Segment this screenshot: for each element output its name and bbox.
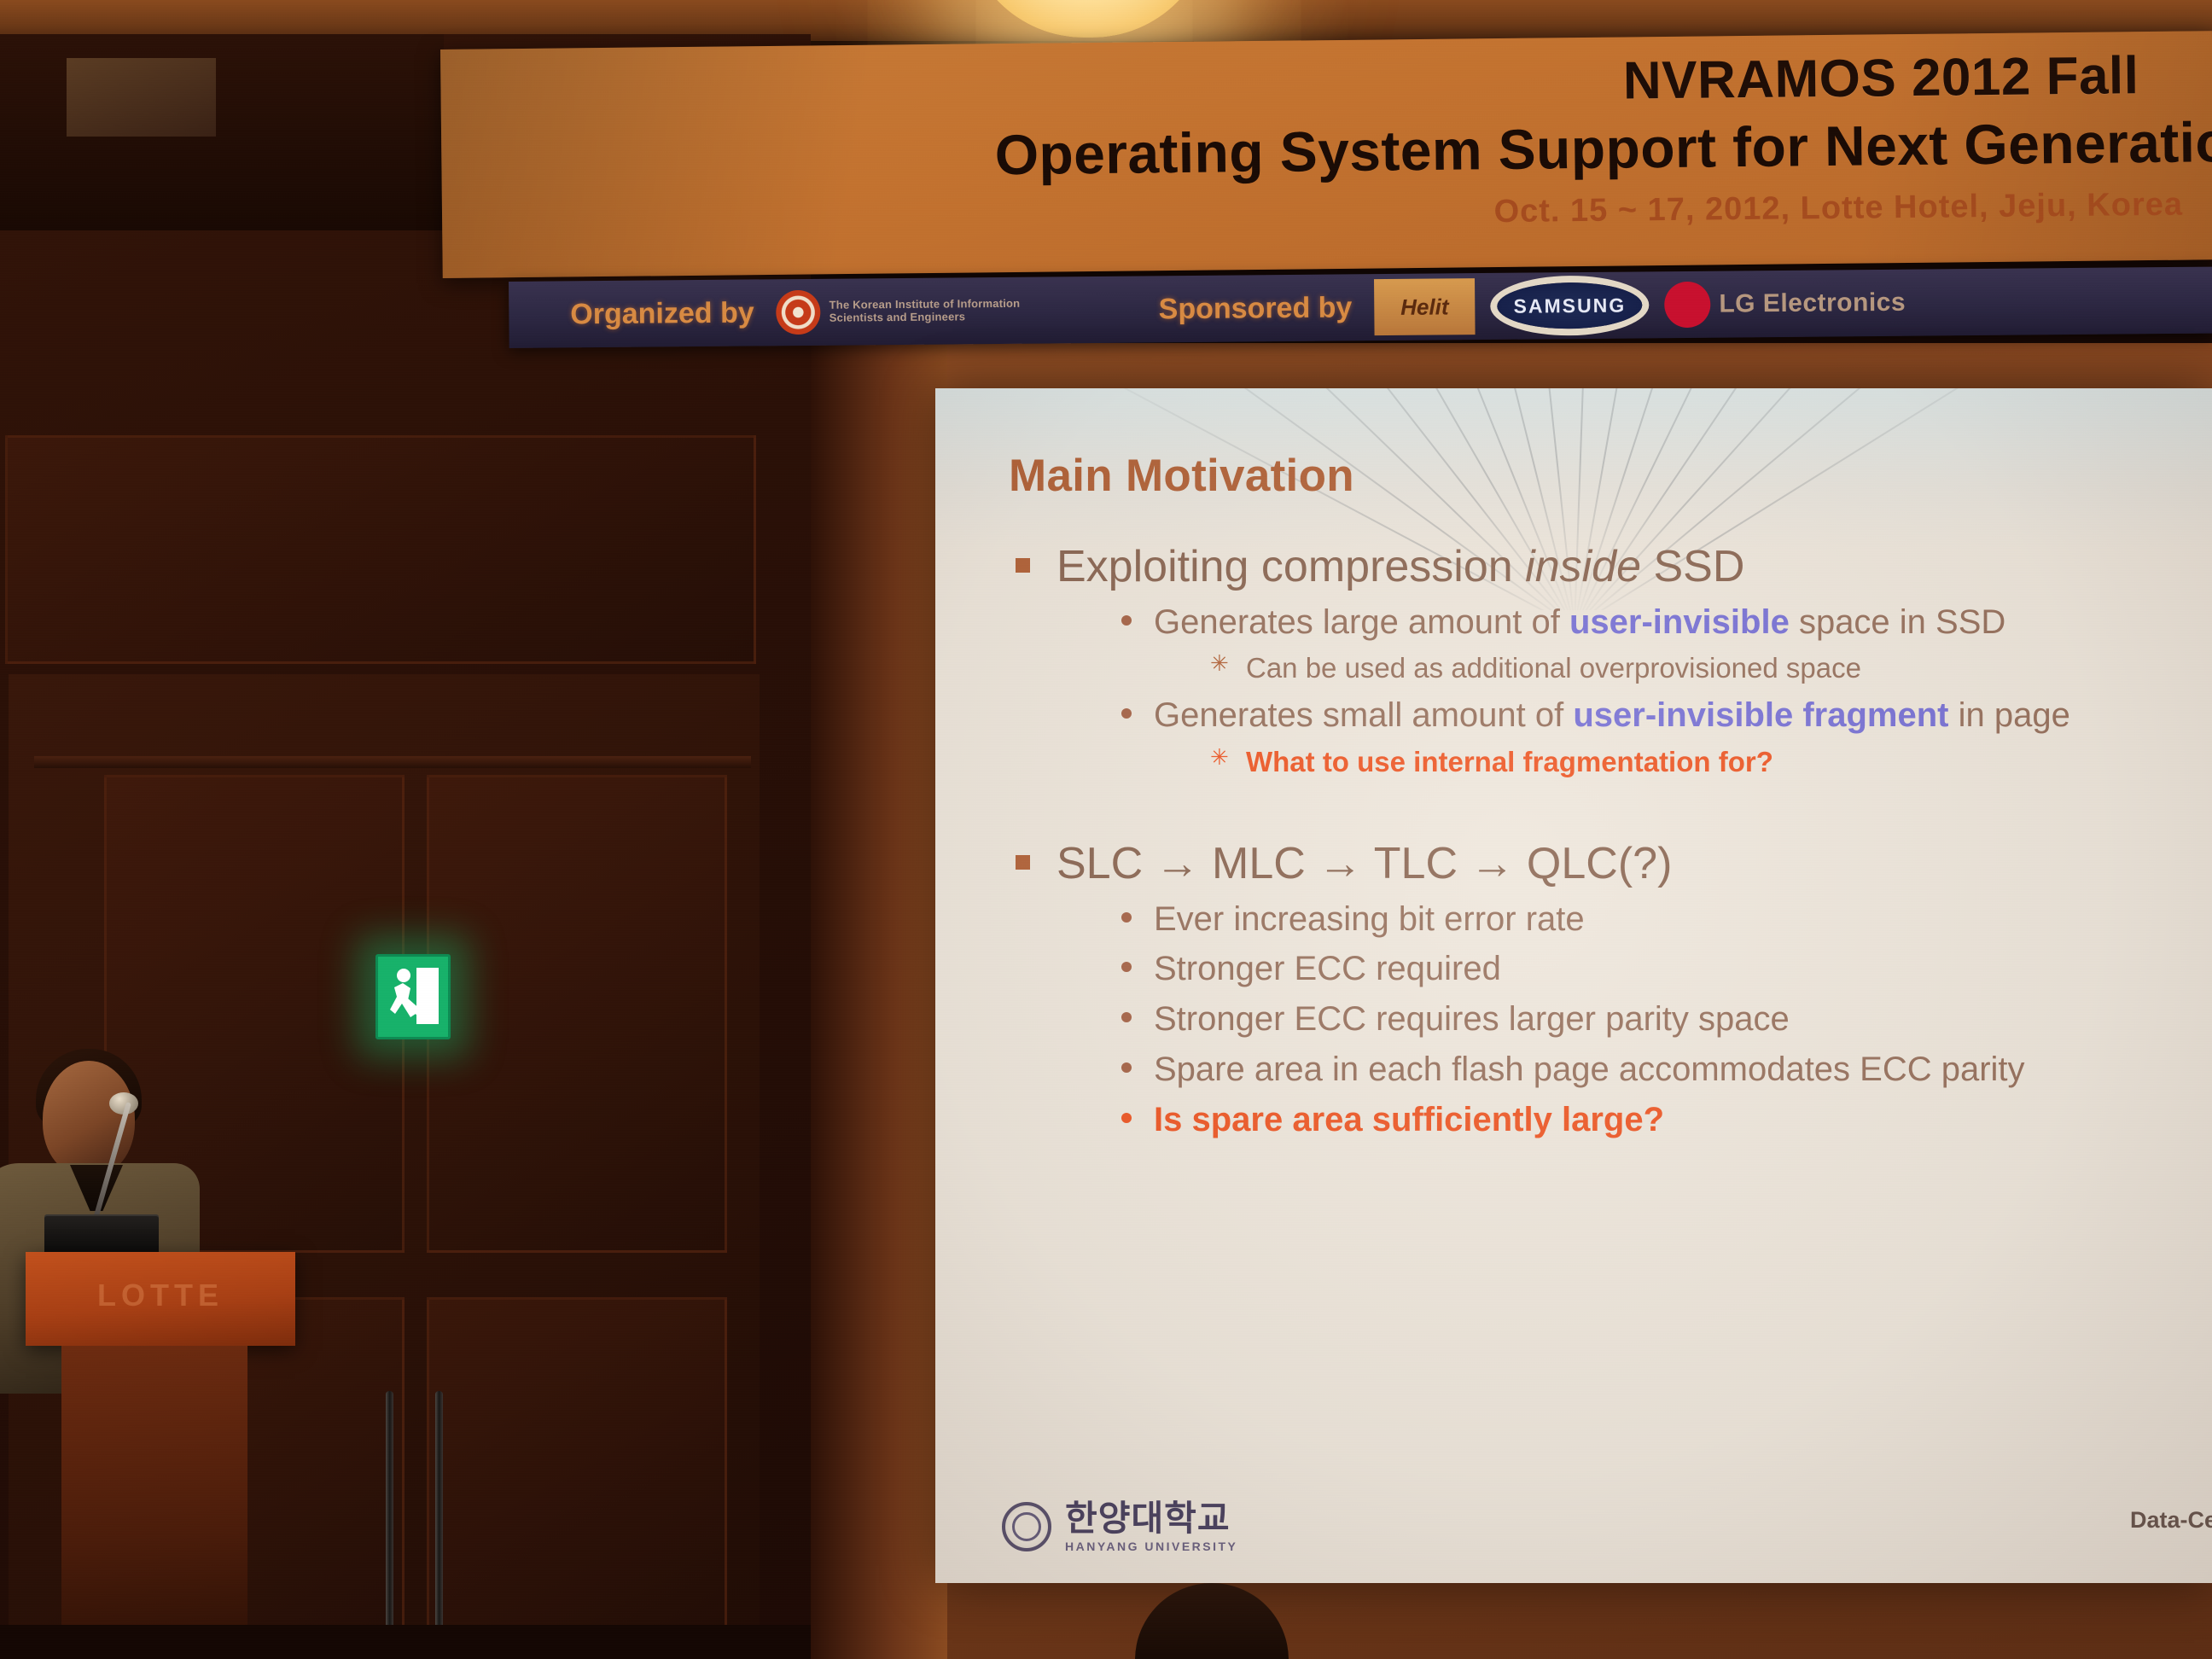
bullet-bit-error-rate: Ever increasing bit error rate (1111, 895, 2212, 944)
wall-panel-upper (5, 435, 756, 664)
bullet-text-italic: inside (1525, 542, 1641, 591)
bullet-exploiting-compression: Exploiting compression inside SSD (1009, 538, 2212, 597)
slide-title: Main Motivation (1009, 450, 1354, 502)
university-seal-icon (1002, 1502, 1051, 1551)
question-text-2: Is spare area sufficiently large? (1154, 1101, 1664, 1138)
bullet-text-b: SSD (1641, 542, 1744, 591)
door-rail (34, 756, 751, 768)
wall-placard (67, 58, 216, 137)
stand-rod-left (386, 1391, 393, 1659)
organized-by-label: Organized by (570, 296, 754, 331)
lg-name-label: LG Electronics (1719, 288, 1906, 319)
conference-room-scene: NVRAMOS 2012 Fall Operating System Suppo… (0, 0, 2212, 1659)
sub2-text-post: in page (1948, 696, 2069, 734)
podium-base (61, 1346, 247, 1659)
slide-body: Exploiting compression inside SSD Genera… (935, 538, 2212, 1145)
university-name-block: 한양대학교 HANYANG UNIVERSITY (1065, 1501, 1237, 1552)
sub-text-pre: Generates large amount of (1154, 603, 1569, 641)
sponsored-by-label: Sponsored by (1159, 291, 1353, 326)
kiise-mark-icon (776, 290, 820, 335)
door-panel-lower-right (427, 1297, 727, 1639)
bullet-overprovisioned-space: Can be used as additional overprovisione… (1207, 648, 2212, 690)
bullet-generates-small-amount: Generates small amount of user-invisible… (1111, 691, 2212, 740)
lab-tag: Data-Ce (2130, 1507, 2212, 1534)
podium-brand-label: LOTTE (97, 1278, 224, 1313)
question-text-1: What to use internal fragmentation for? (1246, 746, 1773, 777)
banner-event-date-venue: Oct. 15 ~ 17, 2012, Lotte Hotel, Jeju, K… (1493, 187, 2183, 230)
stand-rod-right (435, 1391, 443, 1659)
conference-banner: NVRAMOS 2012 Fall Operating System Suppo… (440, 31, 2212, 278)
bullet-larger-parity-space: Stronger ECC requires larger parity spac… (1111, 995, 2212, 1044)
sub-text-post: space in SSD (1790, 603, 2005, 641)
bullet-stronger-ecc-required: Stronger ECC required (1111, 945, 2212, 993)
sub2-text-pre: Generates small amount of (1154, 696, 1573, 734)
banner-event-name: NVRAMOS 2012 Fall (1622, 45, 2139, 111)
bullet-text-a: Exploiting compression (1057, 542, 1525, 591)
lg-mark-icon (1664, 282, 1710, 328)
slide-footer: 한양대학교 HANYANG UNIVERSITY Data-Ce (935, 1479, 2212, 1552)
hanyang-university-logo: 한양대학교 HANYANG UNIVERSITY (1002, 1501, 1237, 1552)
projection-screen: Main Motivation Exploiting compression i… (935, 388, 2212, 1583)
exit-sign (375, 954, 451, 1039)
podium: LOTTE (26, 1252, 295, 1346)
sponsor-logo-lg: LG Electronics (1664, 280, 1906, 328)
highlight-user-invisible: user-invisible (1569, 603, 1790, 641)
presenter-laptop (44, 1214, 159, 1252)
university-name-korean: 한양대학교 (1065, 1501, 1237, 1536)
wall-pillar (811, 343, 947, 1659)
university-name-english: HANYANG UNIVERSITY (1065, 1540, 1237, 1552)
door-panel-right (427, 775, 727, 1253)
sponsor-strip: Organized by The Korean Institute of Inf… (509, 267, 2212, 348)
organizer-logo: The Korean Institute of Information Scie… (776, 288, 1033, 335)
sponsor-logo-samsung: SAMSUNG (1497, 282, 1642, 329)
highlight-user-invisible-fragment: user-invisible fragment (1573, 696, 1948, 734)
banner-event-title: Operating System Support for Next Genera… (994, 108, 2212, 187)
slide-section-gap (935, 785, 2212, 835)
bullet-slc-mlc-tlc-qlc: SLC → MLC → TLC → QLC(?) (1009, 835, 2212, 894)
bullet-spare-area-ecc-parity: Spare area in each flash page accommodat… (1111, 1045, 2212, 1094)
organizer-name: The Korean Institute of Information Scie… (829, 298, 1034, 325)
bullet-generates-large-amount: Generates large amount of user-invisible… (1111, 598, 2212, 647)
banner-inner: NVRAMOS 2012 Fall Operating System Suppo… (440, 31, 2212, 278)
bullet-question-spare-area: Is spare area sufficiently large? (1111, 1096, 2212, 1144)
floor-shadow (0, 1625, 811, 1659)
sponsor-logo-kmc: Helit (1374, 278, 1476, 335)
bullet-question-internal-fragmentation: What to use internal fragmentation for? (1207, 742, 2212, 783)
